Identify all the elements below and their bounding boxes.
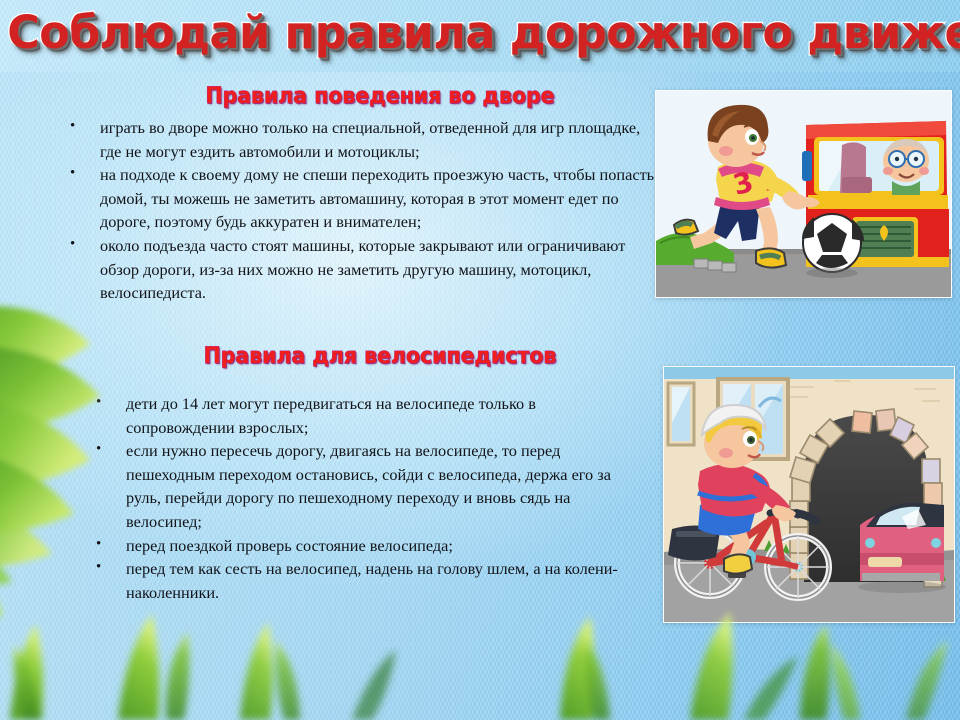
page-title: Соблюдай правила дорожного движения! xyxy=(7,4,953,62)
list-item: играть во дворе можно только на специаль… xyxy=(62,116,662,163)
rules-list-yard: играть во дворе можно только на специаль… xyxy=(62,116,662,305)
rules-list-cyclists: дети до 14 лет могут передвигаться на ве… xyxy=(88,392,648,604)
section-heading-yard: Правила поведения во дворе xyxy=(27,84,734,110)
boy-on-bicycle-icon xyxy=(664,367,954,622)
section-heading-cyclists: Правила для велосипедистов xyxy=(27,344,734,370)
illustration-boy-chasing-ball: 3 3 xyxy=(655,90,952,298)
illustration-boy-on-bicycle xyxy=(663,366,955,623)
list-item: дети до 14 лет могут передвигаться на ве… xyxy=(88,392,648,439)
list-item: на подходе к своему дому не спеши перехо… xyxy=(62,163,662,234)
list-item: перед поездкой проверь состояние велосип… xyxy=(88,534,648,558)
list-item: перед тем как сесть на велосипед, надень… xyxy=(88,557,648,604)
list-item: около подъезда часто стоят машины, котор… xyxy=(62,234,662,305)
poster-canvas: Соблюдай правила дорожного движения! Пра… xyxy=(0,0,960,720)
boy-chasing-ball-icon: 3 3 xyxy=(656,91,951,297)
list-item: если нужно пересечь дорогу, двигаясь на … xyxy=(88,439,648,533)
